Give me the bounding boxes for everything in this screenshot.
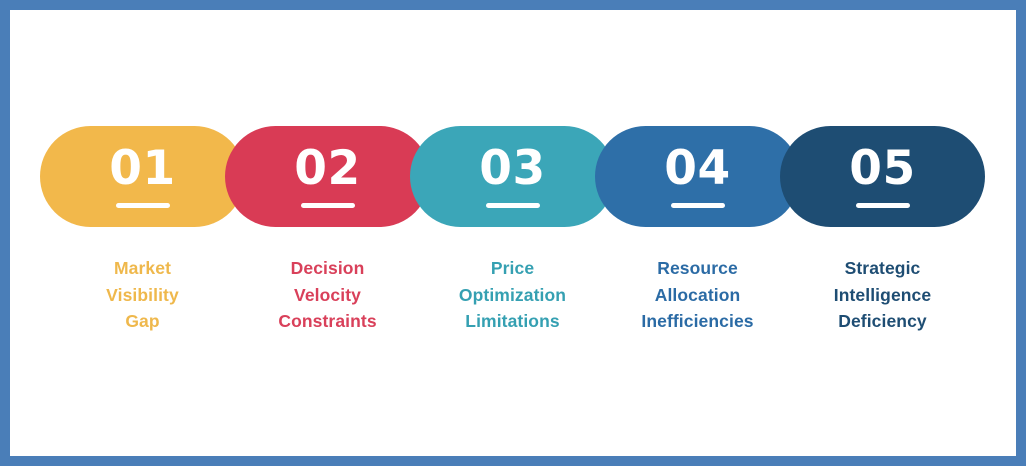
step-number-label: 03 [479, 145, 545, 192]
slide-border-frame: 0102030405 MarketVisibilityGapDecisionVe… [0, 0, 1026, 466]
step-pill-04[interactable]: 04 [595, 126, 800, 227]
process-caption-row: MarketVisibilityGapDecisionVelocityConst… [40, 255, 985, 350]
step-number-label: 01 [109, 145, 175, 192]
step-number-underline [301, 203, 355, 208]
step-number-underline [671, 203, 725, 208]
caption-line: Gap [40, 308, 245, 335]
step-number-label: 04 [664, 145, 730, 192]
caption-line: Resource [595, 255, 800, 282]
caption-line: Limitations [410, 308, 615, 335]
step-pill-02[interactable]: 02 [225, 126, 430, 227]
step-number-label: 02 [294, 145, 360, 192]
caption-line: Visibility [40, 282, 245, 309]
step-number-underline [116, 203, 170, 208]
caption-line: Velocity [225, 282, 430, 309]
caption-line: Optimization [410, 282, 615, 309]
slide-canvas: 0102030405 MarketVisibilityGapDecisionVe… [10, 10, 1016, 456]
step-caption-05: StrategicIntelligenceDeficiency [780, 255, 985, 335]
caption-line: Constraints [225, 308, 430, 335]
step-pill-01[interactable]: 01 [40, 126, 245, 227]
caption-line: Allocation [595, 282, 800, 309]
caption-line: Decision [225, 255, 430, 282]
caption-line: Inefficiencies [595, 308, 800, 335]
step-number-label: 05 [849, 145, 915, 192]
caption-line: Intelligence [780, 282, 985, 309]
step-number-underline [856, 203, 910, 208]
step-caption-02: DecisionVelocityConstraints [225, 255, 430, 335]
process-pill-row: 0102030405 [40, 126, 985, 227]
step-caption-04: ResourceAllocationInefficiencies [595, 255, 800, 335]
step-number-underline [486, 203, 540, 208]
caption-line: Deficiency [780, 308, 985, 335]
step-pill-03[interactable]: 03 [410, 126, 615, 227]
step-caption-01: MarketVisibilityGap [40, 255, 245, 335]
step-caption-03: PriceOptimizationLimitations [410, 255, 615, 335]
caption-line: Market [40, 255, 245, 282]
caption-line: Price [410, 255, 615, 282]
step-pill-05[interactable]: 05 [780, 126, 985, 227]
caption-line: Strategic [780, 255, 985, 282]
